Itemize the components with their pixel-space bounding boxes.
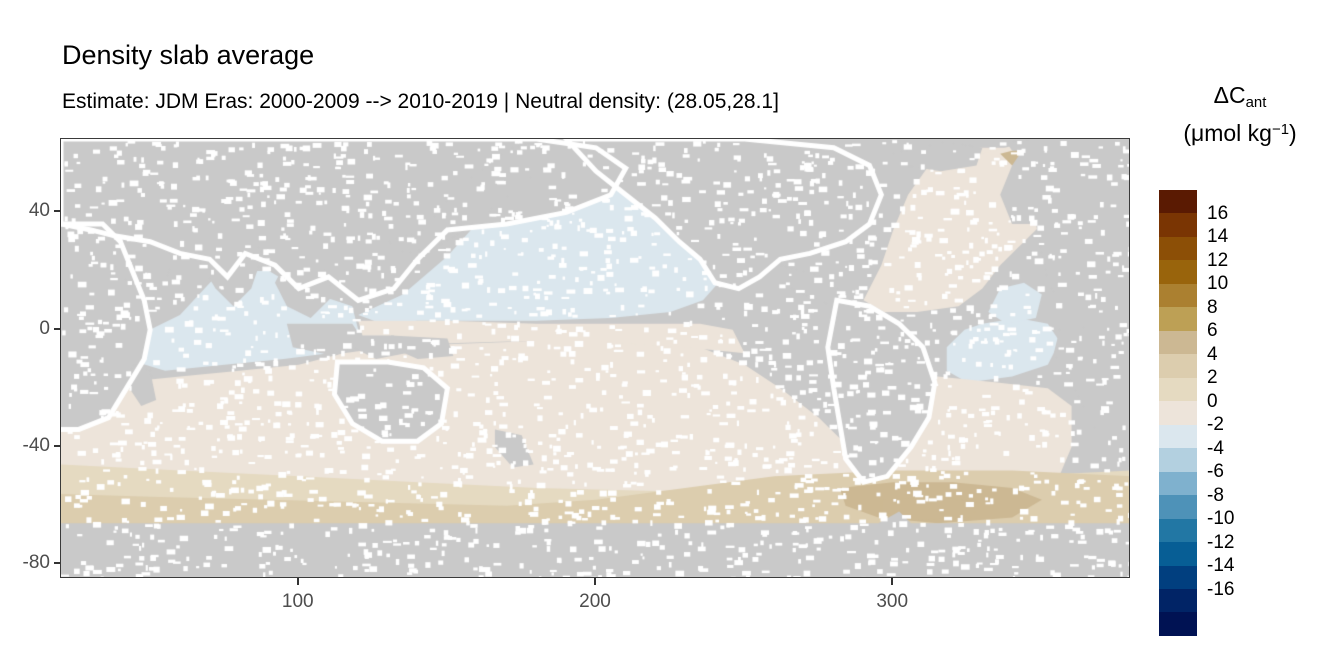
legend-tick-label: 14 <box>1207 227 1228 246</box>
legend-color-band <box>1159 612 1197 635</box>
y-axis-label: -40 <box>0 435 50 457</box>
legend-color-band <box>1159 425 1197 448</box>
legend-unit-exp: −1 <box>1272 121 1289 138</box>
legend-tick-label: -2 <box>1207 415 1224 434</box>
legend-tick-label: 8 <box>1207 298 1218 317</box>
x-axis-label: 200 <box>550 591 640 613</box>
x-tick-mark <box>594 578 596 585</box>
y-tick-mark <box>54 210 60 212</box>
legend-color-band <box>1159 472 1197 495</box>
legend-tick-label: -10 <box>1207 509 1234 528</box>
ocean-heatmap-canvas <box>61 139 1130 578</box>
y-tick-mark <box>54 445 60 447</box>
legend-color-band <box>1159 237 1197 260</box>
legend-color-band <box>1159 495 1197 518</box>
legend-color-band <box>1159 284 1197 307</box>
y-axis-label: -80 <box>0 552 50 574</box>
legend-tick-label: 0 <box>1207 392 1218 411</box>
map-panel <box>60 138 1130 578</box>
legend-tick-label: -12 <box>1207 533 1234 552</box>
legend-color-band <box>1159 378 1197 401</box>
legend-unit-pre: (μmol kg <box>1183 120 1272 146</box>
legend-tick-labels: 1614121086420-2-4-6-8-10-12-14-16 <box>1207 190 1327 636</box>
legend-sub-ant: ant <box>1246 94 1267 111</box>
legend-tick-label: 6 <box>1207 321 1218 340</box>
legend-unit-post: ) <box>1289 120 1297 146</box>
legend-color-band <box>1159 354 1197 377</box>
legend-tick-label: 12 <box>1207 251 1228 270</box>
legend-color-band <box>1159 213 1197 236</box>
y-tick-mark <box>54 562 60 564</box>
legend-color-band <box>1159 542 1197 565</box>
legend-color-band <box>1159 260 1197 283</box>
legend-tick-label: -6 <box>1207 462 1224 481</box>
legend-delta-c: ΔC <box>1214 82 1246 108</box>
legend-colorbar <box>1159 190 1197 636</box>
x-axis-label: 100 <box>253 591 343 613</box>
colorbar-legend: ΔCant (μmol kg−1) 1614121086420-2-4-6-8-… <box>1150 80 1340 640</box>
x-tick-mark <box>891 578 893 585</box>
legend-color-band <box>1159 589 1197 612</box>
plot-root: Density slab average Estimate: JDM Eras:… <box>0 0 1344 672</box>
legend-color-band <box>1159 448 1197 471</box>
legend-title: ΔCant (μmol kg−1) <box>1150 80 1330 152</box>
legend-tick-label: -8 <box>1207 486 1224 505</box>
legend-tick-label: 2 <box>1207 368 1218 387</box>
y-axis-label: 0 <box>0 318 50 340</box>
page-title: Density slab average <box>62 40 314 70</box>
legend-tick-label: 10 <box>1207 274 1228 293</box>
legend-color-band <box>1159 307 1197 330</box>
y-tick-mark <box>54 328 60 330</box>
y-axis-label: 40 <box>0 200 50 222</box>
legend-tick-label: -14 <box>1207 556 1234 575</box>
x-axis-label: 300 <box>847 591 937 613</box>
legend-tick-label: -16 <box>1207 580 1234 599</box>
plot-subtitle: Estimate: JDM Eras: 2000-2009 --> 2010-2… <box>62 90 779 114</box>
legend-tick-label: 4 <box>1207 345 1218 364</box>
legend-color-band <box>1159 401 1197 424</box>
x-tick-mark <box>297 578 299 585</box>
legend-tick-label: 16 <box>1207 204 1228 223</box>
legend-color-band <box>1159 519 1197 542</box>
legend-tick-label: -4 <box>1207 439 1224 458</box>
legend-color-band <box>1159 190 1197 213</box>
legend-color-band <box>1159 331 1197 354</box>
legend-color-band <box>1159 566 1197 589</box>
